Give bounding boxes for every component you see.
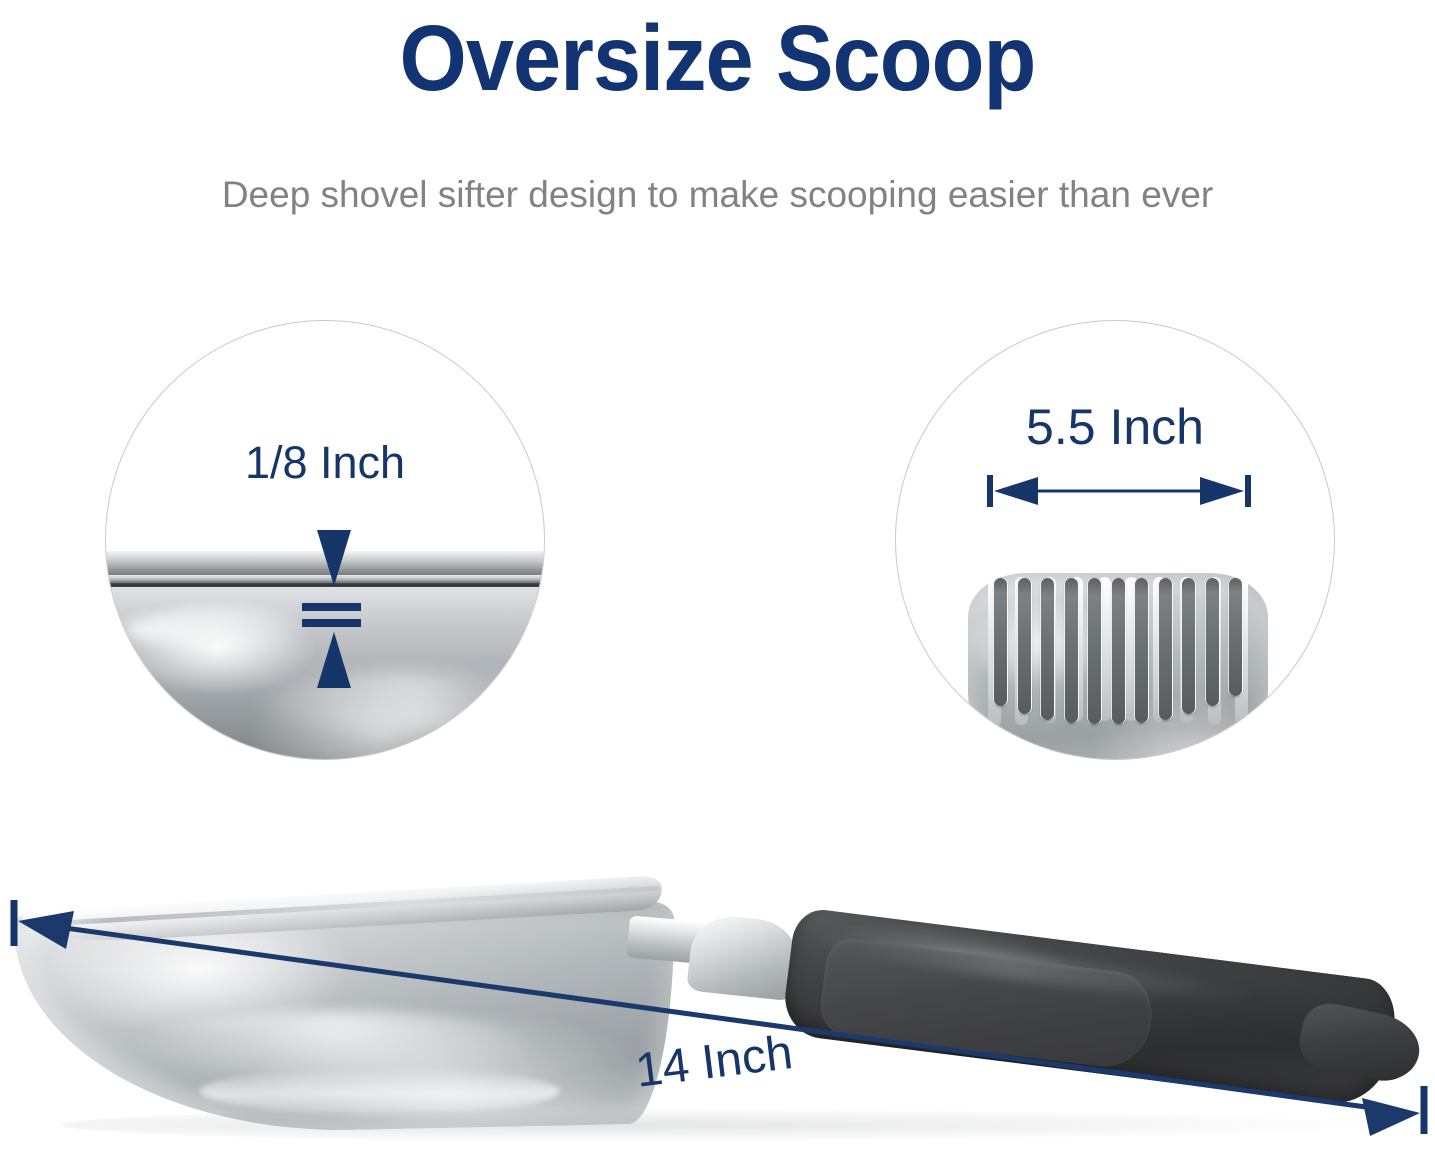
callout-thickness: 1/8 Inch [105,320,545,760]
triangle-down-icon [317,530,351,586]
thickness-label: 1/8 Inch [106,437,544,489]
triangle-up-icon [317,632,351,688]
length-arrow-icon [0,890,1435,1150]
sifter-slot-group [994,578,1242,724]
sifter-head-photo [968,573,1268,760]
double-headed-arrow-icon [986,471,1252,511]
width-label: 5.5 Inch [896,398,1334,456]
page-subtitle: Deep shovel sifter design to make scoopi… [0,172,1435,218]
page-title: Oversize Scoop [50,6,1385,110]
callout-width: 5.5 Inch [895,320,1335,760]
thickness-bar-lower-icon [302,619,361,627]
product-infographic: Oversize Scoop Deep shovel sifter design… [0,0,1435,1170]
thickness-bar-upper-icon [302,603,361,611]
